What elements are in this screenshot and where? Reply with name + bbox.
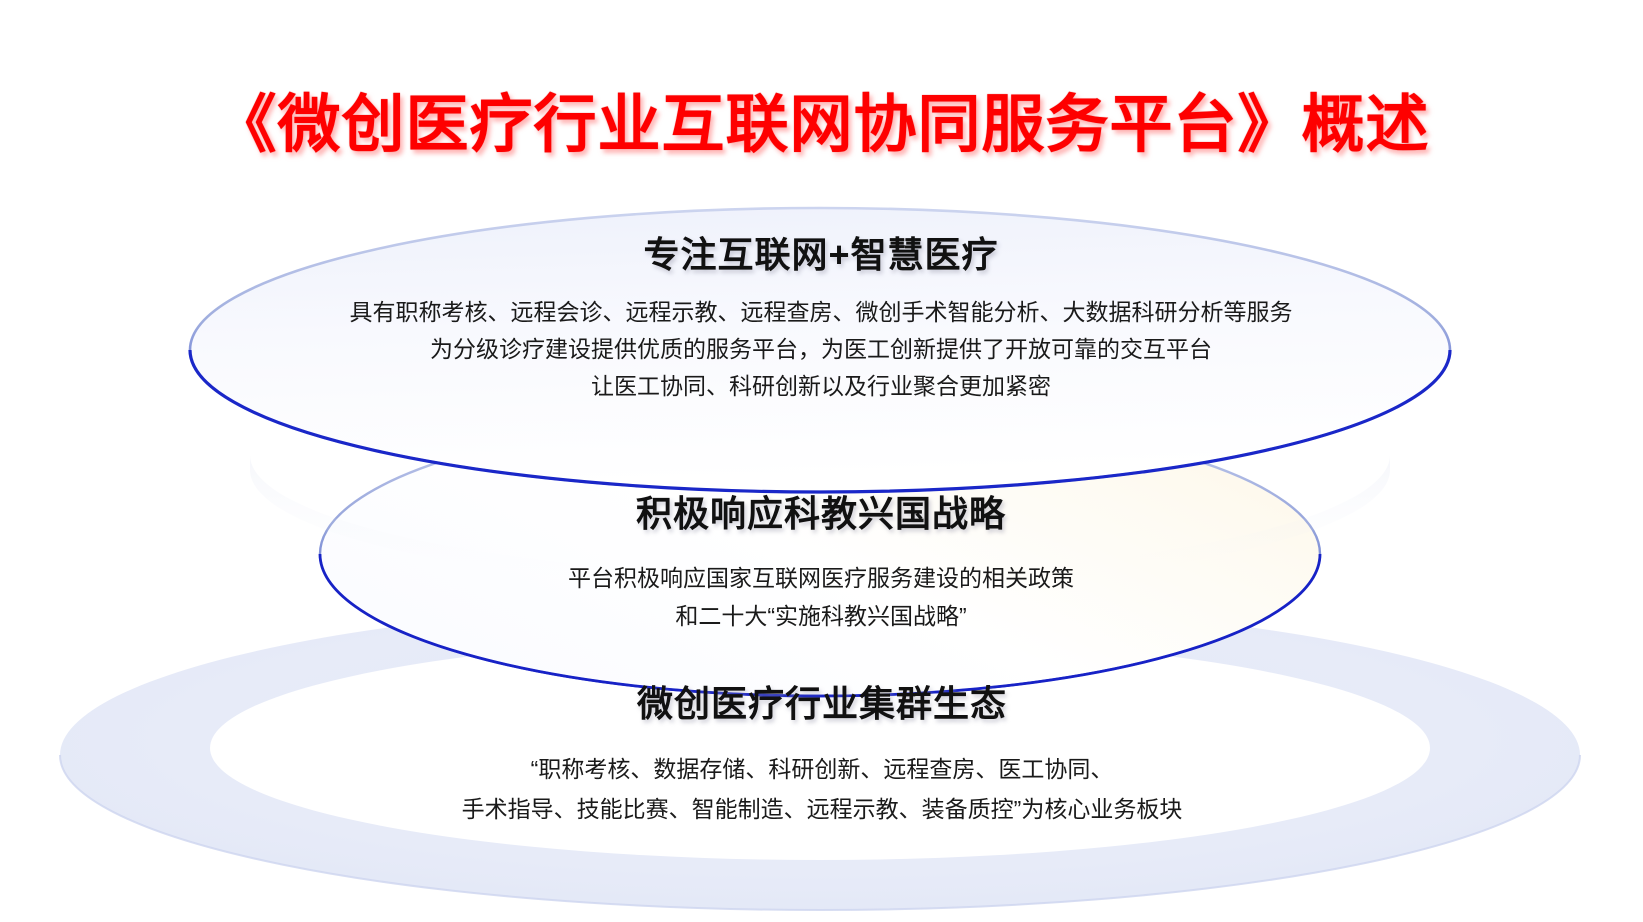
tier-2-block: 积极响应科教兴国战略 平台积极响应国家互联网医疗服务建设的相关政策 和二十大“实…	[300, 485, 1342, 635]
tier-1-line-1: 具有职称考核、远程会诊、远程示教、远程查房、微创手术智能分析、大数据科研分析等服…	[171, 294, 1471, 331]
tier-1-line-3: 让医工协同、科研创新以及行业聚合更加紧密	[171, 368, 1471, 405]
tier-1-block: 专注互联网+智慧医疗 具有职称考核、远程会诊、远程示教、远程查房、微创手术智能分…	[171, 226, 1471, 405]
slide-canvas: 《微创医疗行业互联网协同服务平台》概述 专注互联网+智慧医疗 具有职称考核、远程…	[0, 0, 1643, 922]
tier-2-line-2: 和二十大“实施科教兴国战略”	[300, 597, 1342, 635]
tier-3-heading: 微创医疗行业集群生态	[222, 675, 1422, 727]
tier-3-block: 微创医疗行业集群生态 “职称考核、数据存储、科研创新、远程查房、医工协同、 手术…	[222, 675, 1422, 829]
tier-2-line-1: 平台积极响应国家互联网医疗服务建设的相关政策	[300, 559, 1342, 597]
tier-1-line-2: 为分级诊疗建设提供优质的服务平台，为医工创新提供了开放可靠的交互平台	[171, 331, 1471, 368]
tier-1-body: 具有职称考核、远程会诊、远程示教、远程查房、微创手术智能分析、大数据科研分析等服…	[171, 294, 1471, 405]
tier-3-body: “职称考核、数据存储、科研创新、远程查房、医工协同、 手术指导、技能比赛、智能制…	[222, 749, 1422, 829]
tier-1-heading: 专注互联网+智慧医疗	[171, 226, 1471, 278]
tier-3-line-1: “职称考核、数据存储、科研创新、远程查房、医工协同、	[222, 749, 1422, 789]
tier-2-body: 平台积极响应国家互联网医疗服务建设的相关政策 和二十大“实施科教兴国战略”	[300, 559, 1342, 635]
tier-2-heading: 积极响应科教兴国战略	[300, 485, 1342, 537]
tier-3-line-2: 手术指导、技能比赛、智能制造、远程示教、装备质控”为核心业务板块	[222, 789, 1422, 829]
page-title: 《微创医疗行业互联网协同服务平台》概述	[0, 74, 1643, 165]
